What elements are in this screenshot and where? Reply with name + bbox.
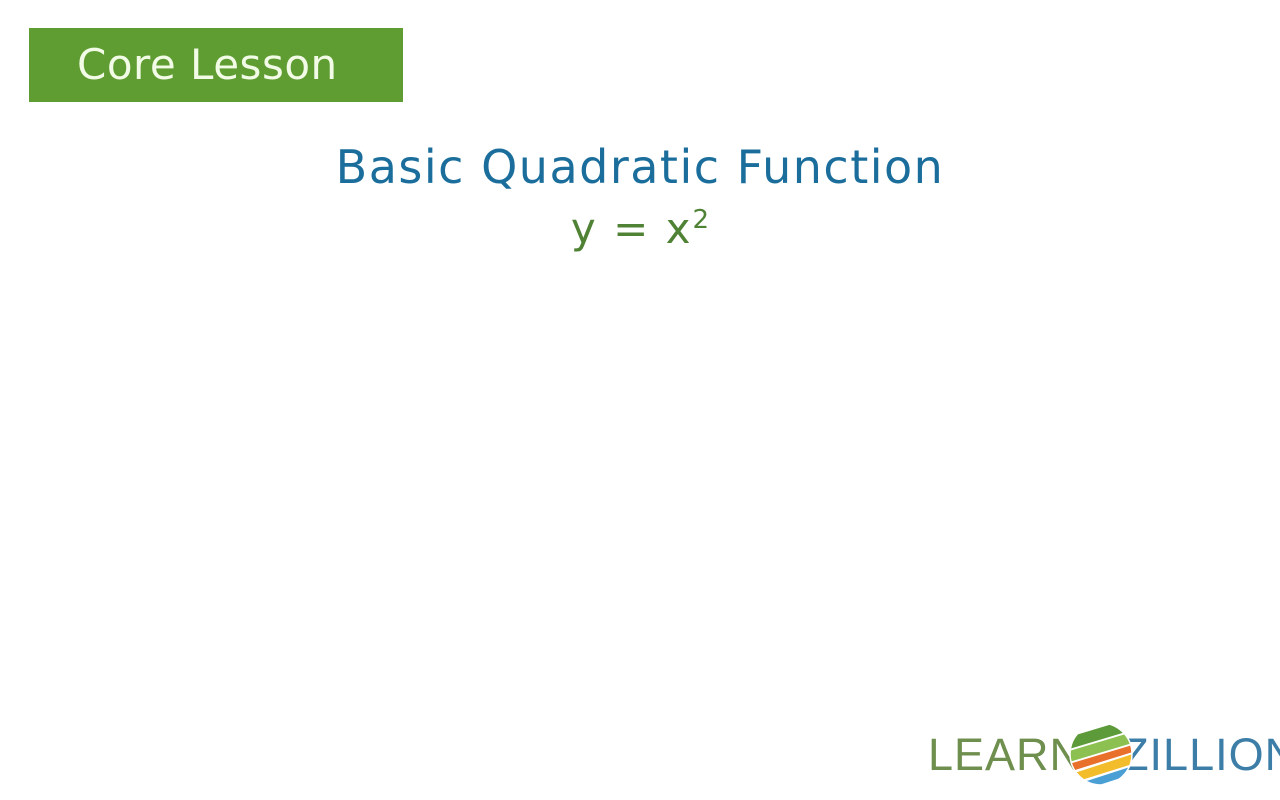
equation-base: y = x	[571, 204, 693, 253]
learnzillion-logo: LEARN	[928, 718, 1264, 790]
learnzillion-globe-icon	[1069, 722, 1133, 786]
equation-exponent: 2	[693, 205, 710, 235]
lesson-slide: Core Lesson Basic Quadratic Function y =…	[0, 0, 1280, 800]
title-block: Basic Quadratic Function y = x2	[0, 142, 1280, 252]
core-lesson-banner: Core Lesson	[29, 28, 403, 102]
page-title: Basic Quadratic Function	[0, 142, 1280, 194]
logo-word-learn: LEARN	[928, 732, 1083, 777]
work-area[interactable]	[60, 300, 1220, 690]
lesson-equation: y = x2	[0, 206, 1280, 252]
logo-word-zillion: ZILLION	[1121, 732, 1280, 777]
core-lesson-banner-label: Core Lesson	[77, 44, 338, 86]
